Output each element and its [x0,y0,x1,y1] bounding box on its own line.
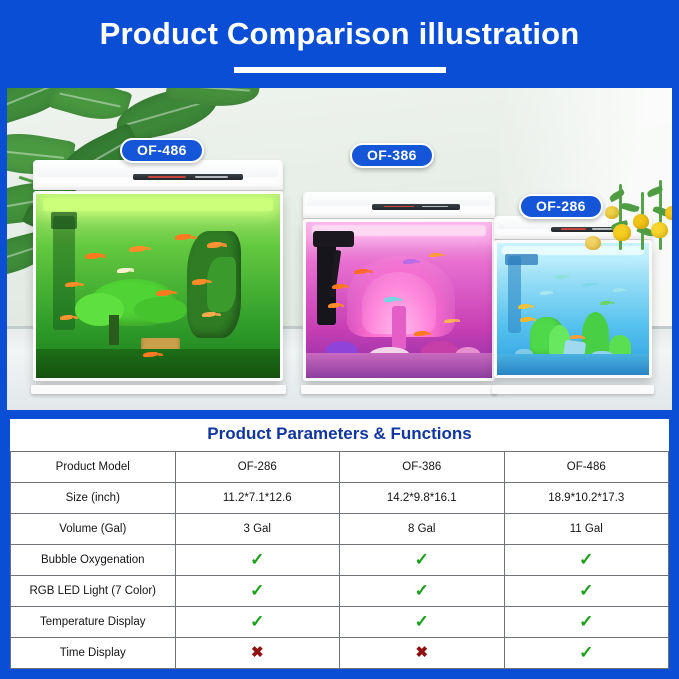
column-header-1: OF-286 [175,451,340,482]
table-cell: 14.2*9.8*16.1 [340,482,505,513]
tank-of-286 [494,216,652,388]
check-icon: ✓ [415,550,429,569]
check-icon: ✓ [415,612,429,631]
check-icon: ✓ [250,550,264,569]
row-label: Temperature Display [11,606,176,637]
table-title-row: Product Parameters & Functions [11,419,669,451]
table-cell: 11.2*7.1*12.6 [175,482,340,513]
cross-icon: ✖ [251,644,264,661]
check-icon: ✓ [250,581,264,600]
check-icon: ✓ [579,581,593,600]
spec-table-grid: Product Parameters & Functions Product M… [10,419,669,669]
table-cell-mark: ✓ [504,575,669,606]
check-icon: ✓ [579,550,593,569]
tank-glass [303,219,495,381]
table-cell-mark: ✓ [340,606,505,637]
table-cell-mark: ✖ [175,637,340,668]
table-cell-mark: ✓ [504,637,669,668]
photo-scene: OF-486 [7,88,672,410]
flower [585,236,601,250]
check-icon: ✓ [579,612,593,631]
tank-lid [303,192,495,218]
table-cell-mark: ✓ [175,544,340,575]
table-row: Temperature Display✓✓✓ [11,606,669,637]
table-row: Volume (Gal)3 Gal8 Gal11 Gal [11,513,669,544]
tank-glass [33,191,283,381]
check-icon: ✓ [415,581,429,600]
row-label: Bubble Oxygenation [11,544,176,575]
table-body: Size (inch)11.2*7.1*12.614.2*9.8*16.118.… [11,482,669,668]
badge-of-486: OF-486 [120,138,204,163]
flower [605,206,619,219]
table-cell-mark: ✓ [340,544,505,575]
table-cell-mark: ✓ [504,544,669,575]
spec-table: Product Parameters & Functions Product M… [7,416,672,672]
table-cell-mark: ✖ [340,637,505,668]
table-cell: 8 Gal [340,513,505,544]
column-header-2: OF-386 [340,451,505,482]
badge-of-286: OF-286 [519,194,603,219]
table-cell-mark: ✓ [340,575,505,606]
badge-of-386: OF-386 [350,143,434,168]
row-label: Volume (Gal) [11,513,176,544]
flower [651,222,668,238]
table-cell: 11 Gal [504,513,669,544]
page-header: Product Comparison illustration [0,0,679,88]
cross-icon: ✖ [415,644,428,661]
row-label: Time Display [11,637,176,668]
column-header-3: OF-486 [504,451,669,482]
column-header-0: Product Model [11,451,176,482]
table-header-row: Product Model OF-286 OF-386 OF-486 [11,451,669,482]
table-row: Size (inch)11.2*7.1*12.614.2*9.8*16.118.… [11,482,669,513]
table-cell-mark: ✓ [175,606,340,637]
tank-of-486 [33,160,283,388]
row-label: Size (inch) [11,482,176,513]
tank-of-386 [303,192,495,388]
table-row: Bubble Oxygenation✓✓✓ [11,544,669,575]
flower [665,206,672,220]
table-cell: 18.9*10.2*17.3 [504,482,669,513]
row-label: RGB LED Light (7 Color) [11,575,176,606]
tank-lid [33,160,283,190]
check-icon: ✓ [250,612,264,631]
product-photo: OF-486 [7,88,672,410]
table-cell: 3 Gal [175,513,340,544]
page-title: Product Comparison illustration [100,18,580,49]
table-title: Product Parameters & Functions [11,419,669,451]
table-cell-mark: ✓ [175,575,340,606]
table-row: Time Display✖✖✓ [11,637,669,668]
flower [633,214,649,229]
table-row: RGB LED Light (7 Color)✓✓✓ [11,575,669,606]
table-cell-mark: ✓ [504,606,669,637]
flower [613,224,631,241]
title-underline [234,67,446,73]
check-icon: ✓ [579,643,593,662]
tank-glass [494,240,652,378]
